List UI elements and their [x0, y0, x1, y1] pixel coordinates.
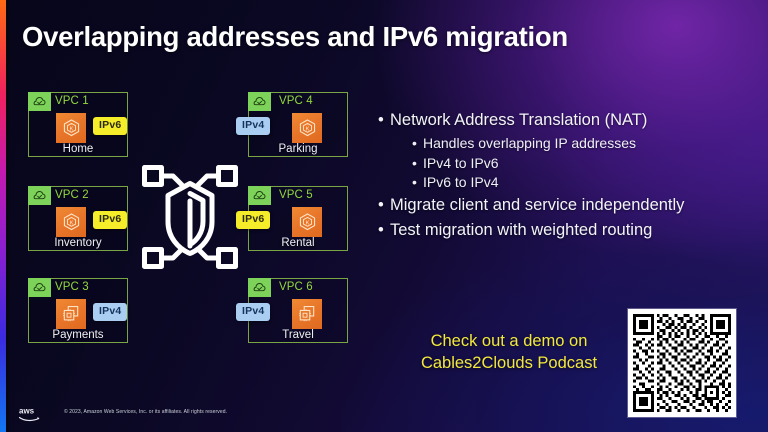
- qr-code[interactable]: [628, 309, 736, 417]
- vpc-name: Rental: [249, 237, 347, 249]
- vpc-title: VPC 2: [55, 189, 89, 201]
- vpc-name: Inventory: [29, 237, 127, 249]
- qr-code-image: [633, 314, 731, 412]
- bullet-dot-icon: •: [378, 220, 390, 241]
- bullet-level1: • Test migration with weighted routing: [378, 220, 764, 241]
- vpc-title: VPC 4: [279, 95, 313, 107]
- accent-bar-shadow: [6, 0, 11, 432]
- vpc-name: Travel: [249, 329, 347, 341]
- page-title: Overlapping addresses and IPv6 migration: [22, 21, 568, 53]
- svg-text:K: K: [69, 220, 73, 226]
- svg-text:K: K: [69, 126, 73, 132]
- vpc-cloud-icon: [28, 186, 51, 205]
- svg-text:K: K: [305, 126, 309, 132]
- vpc-title: VPC 6: [279, 281, 313, 293]
- vpc-cloud-icon: [28, 92, 51, 111]
- vpc-cloud-icon: [248, 186, 271, 205]
- protocol-badge-vpc4: IPv4: [236, 117, 270, 135]
- demo-callout-line2: Cables2Clouds Podcast: [396, 353, 622, 375]
- aws-logo: aws: [18, 405, 46, 423]
- eks-icon: K: [56, 207, 86, 237]
- bullet-dot-icon: •: [412, 154, 423, 172]
- vpc-name: Home: [29, 143, 127, 155]
- transit-gateway-icon: [140, 163, 240, 271]
- vpc-title: VPC 5: [279, 189, 313, 201]
- bullet-level1: • Migrate client and service independent…: [378, 195, 764, 216]
- ec2-icon: [56, 299, 86, 329]
- bullet-dot-icon: •: [412, 173, 423, 191]
- bullet-level2: • Handles overlapping IP addresses: [412, 134, 764, 152]
- ec2-icon: [292, 299, 322, 329]
- bullet-dot-icon: •: [378, 195, 390, 216]
- bullet-text: Test migration with weighted routing: [390, 220, 652, 241]
- bullet-level2: • IPv4 to IPv6: [412, 154, 764, 172]
- vpc-title: VPC 3: [55, 281, 89, 293]
- demo-callout-line1: Check out a demo on: [396, 331, 622, 353]
- vpc-name: Parking: [249, 143, 347, 155]
- protocol-badge-vpc2: IPv6: [93, 211, 127, 229]
- vpc-name: Payments: [29, 329, 127, 341]
- protocol-badge-vpc5: IPv6: [236, 211, 270, 229]
- bullet-list: • Network Address Translation (NAT) • Ha…: [378, 110, 764, 245]
- protocol-badge-vpc3: IPv4: [93, 303, 127, 321]
- svg-text:K: K: [305, 220, 309, 226]
- bullet-text: Handles overlapping IP addresses: [423, 134, 636, 152]
- bullet-level1: • Network Address Translation (NAT): [378, 110, 764, 131]
- vpc-cloud-icon: [248, 278, 271, 297]
- vpc-cloud-icon: [28, 278, 51, 297]
- svg-text:aws: aws: [19, 407, 35, 416]
- copyright-text: © 2023, Amazon Web Services, Inc. or its…: [64, 409, 227, 415]
- protocol-badge-vpc1: IPv6: [93, 117, 127, 135]
- bullet-text: IPv6 to IPv4: [423, 173, 498, 191]
- bullet-text: IPv4 to IPv6: [423, 154, 498, 172]
- vpc-cloud-icon: [248, 92, 271, 111]
- eks-icon: K: [292, 113, 322, 143]
- bullet-text: Migrate client and service independently: [390, 195, 684, 216]
- protocol-badge-vpc6: IPv4: [236, 303, 270, 321]
- bullet-level2: • IPv6 to IPv4: [412, 173, 764, 191]
- bullet-dot-icon: •: [378, 110, 390, 131]
- demo-callout: Check out a demo on Cables2Clouds Podcas…: [396, 331, 622, 375]
- eks-icon: K: [292, 207, 322, 237]
- eks-icon: K: [56, 113, 86, 143]
- bullet-text: Network Address Translation (NAT): [390, 110, 647, 131]
- bullet-dot-icon: •: [412, 134, 423, 152]
- slide-canvas: Overlapping addresses and IPv6 migration…: [0, 0, 768, 432]
- vpc-title: VPC 1: [55, 95, 89, 107]
